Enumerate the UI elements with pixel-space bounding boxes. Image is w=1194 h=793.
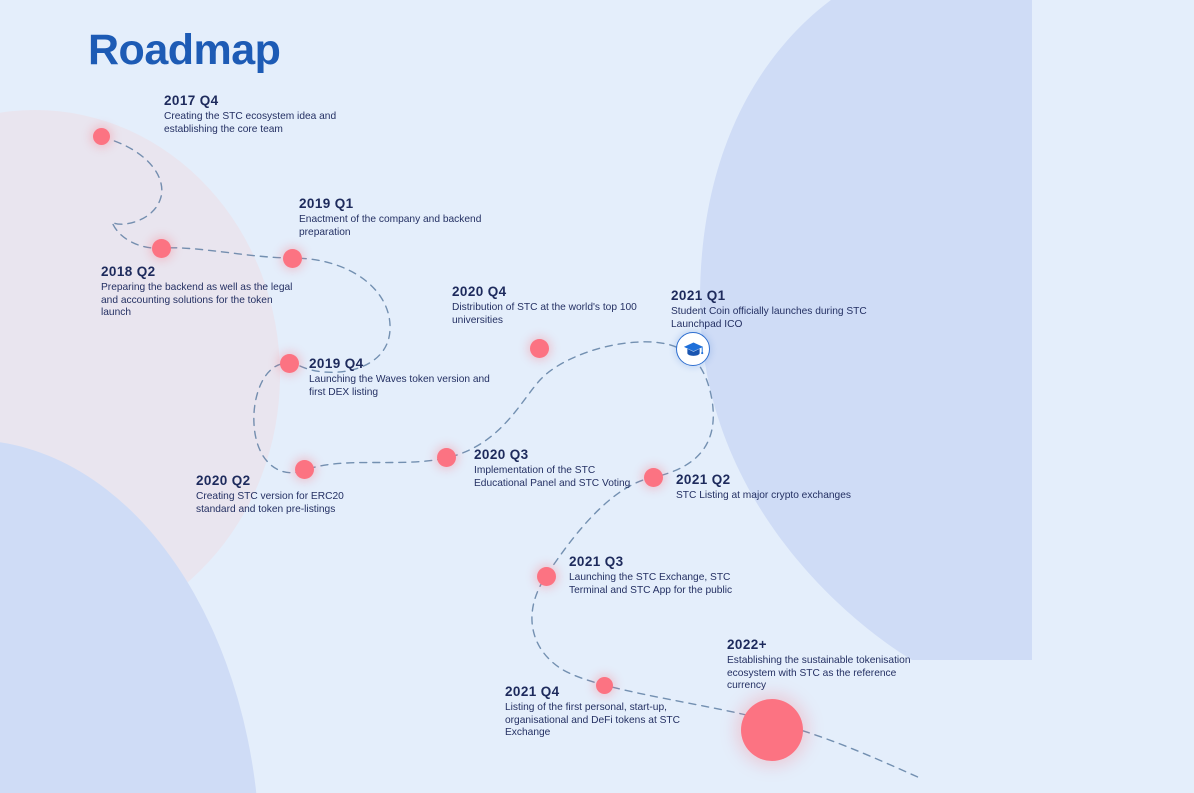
- milestone-2019-q1: 2019 Q1 Enactment of the company and bac…: [299, 196, 499, 239]
- milestone-description: Listing of the first personal, start-up,…: [505, 702, 695, 740]
- milestone-2021-q4: 2021 Q4 Listing of the first personal, s…: [505, 684, 695, 740]
- milestone-2022-plus: 2022+ Establishing the sustainable token…: [727, 637, 927, 693]
- page-title: Roadmap: [88, 26, 280, 75]
- milestone-description: Student Coin officially launches during …: [671, 306, 886, 331]
- graduation-cap-icon: [683, 339, 704, 360]
- milestone-2020-q2: 2020 Q2 Creating STC version for ERC20 s…: [196, 473, 386, 516]
- milestone-2018-q2: 2018 Q2 Preparing the backend as well as…: [101, 264, 301, 320]
- milestone-title: 2021 Q1: [671, 288, 886, 303]
- milestone-marker-2017-q4[interactable]: [93, 128, 110, 145]
- milestone-description: Implementation of the STC Educational Pa…: [474, 465, 634, 490]
- milestone-2021-q1: 2021 Q1 Student Coin officially launches…: [671, 288, 886, 331]
- milestone-title: 2017 Q4: [164, 93, 354, 108]
- milestone-marker-2022-plus[interactable]: [741, 699, 803, 761]
- milestone-title: 2021 Q3: [569, 554, 749, 569]
- milestone-title: 2020 Q4: [452, 284, 642, 299]
- milestone-2017-q4: 2017 Q4 Creating the STC ecosystem idea …: [164, 93, 354, 136]
- milestone-title: 2018 Q2: [101, 264, 301, 279]
- milestone-title: 2021 Q4: [505, 684, 695, 699]
- milestone-description: Launching the Waves token version and fi…: [309, 374, 509, 399]
- milestone-title: 2019 Q4: [309, 356, 509, 371]
- milestone-marker-2019-q4[interactable]: [280, 354, 299, 373]
- milestone-description: STC Listing at major crypto exchanges: [676, 490, 866, 503]
- milestone-title: 2019 Q1: [299, 196, 499, 211]
- milestone-marker-2020-q4[interactable]: [530, 339, 549, 358]
- milestone-title: 2021 Q2: [676, 472, 866, 487]
- milestone-title: 2020 Q2: [196, 473, 386, 488]
- milestone-marker-2021-q3[interactable]: [537, 567, 556, 586]
- milestone-2021-q3: 2021 Q3 Launching the STC Exchange, STC …: [569, 554, 749, 597]
- milestone-title: 2022+: [727, 637, 927, 652]
- milestone-description: Preparing the backend as well as the leg…: [101, 282, 301, 320]
- milestone-description: Establishing the sustainable tokenisatio…: [727, 655, 927, 693]
- milestone-description: Launching the STC Exchange, STC Terminal…: [569, 572, 749, 597]
- roadmap-infographic: Roadmap 2017 Q4 Creating the STC ecosyst…: [0, 0, 1194, 793]
- milestone-title: 2020 Q3: [474, 447, 634, 462]
- milestone-2020-q3: 2020 Q3 Implementation of the STC Educat…: [474, 447, 634, 490]
- milestone-description: Enactment of the company and backend pre…: [299, 214, 499, 239]
- milestone-marker-2021-q1-graduation-cap-badge[interactable]: [676, 332, 710, 366]
- blue-panel-right: [912, 0, 1032, 660]
- milestone-2019-q4: 2019 Q4 Launching the Waves token versio…: [309, 356, 509, 399]
- milestone-marker-2018-q2[interactable]: [152, 239, 171, 258]
- milestone-marker-2020-q3[interactable]: [437, 448, 456, 467]
- milestone-description: Creating the STC ecosystem idea and esta…: [164, 111, 354, 136]
- milestone-description: Distribution of STC at the world's top 1…: [452, 302, 642, 327]
- milestone-2021-q2: 2021 Q2 STC Listing at major crypto exch…: [676, 472, 866, 503]
- milestone-description: Creating STC version for ERC20 standard …: [196, 491, 386, 516]
- milestone-2020-q4: 2020 Q4 Distribution of STC at the world…: [452, 284, 642, 327]
- milestone-marker-2021-q2[interactable]: [644, 468, 663, 487]
